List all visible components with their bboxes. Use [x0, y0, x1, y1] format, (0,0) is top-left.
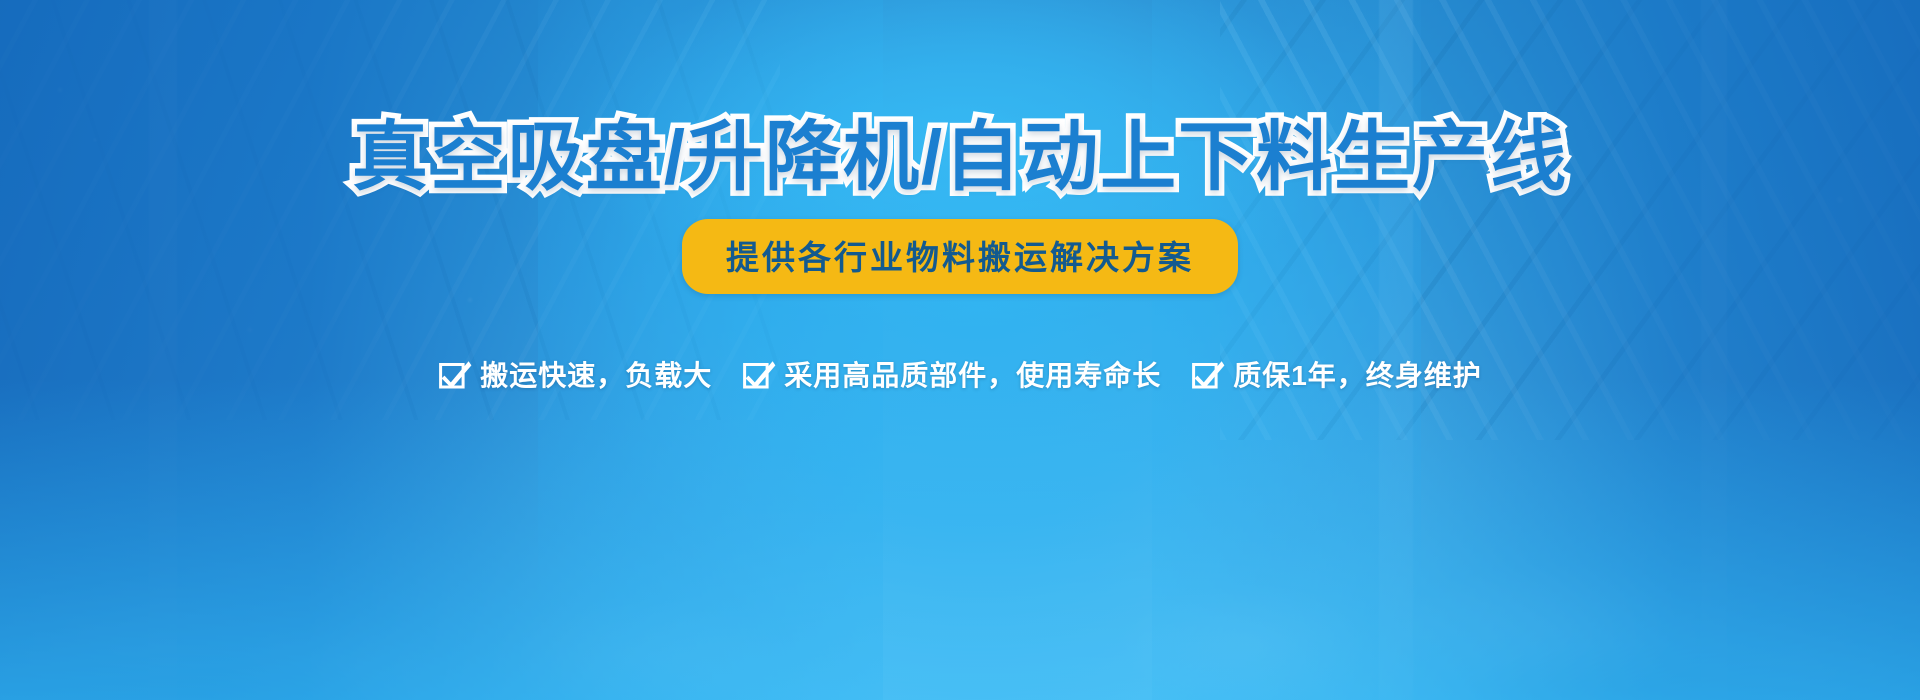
- banner-headline: 真空吸盘/升降机/自动上下料生产线: [352, 118, 1568, 197]
- banner-subtitle-badge: 提供各行业物料搬运解决方案: [682, 219, 1238, 294]
- feature-list: 搬运快速，负载大 采用高品质部件，使用寿命长 质保1年，终身维护: [438, 354, 1482, 394]
- feature-item: 质保1年，终身维护: [1191, 354, 1482, 394]
- banner-subtitle-row: 提供各行业物料搬运解决方案: [682, 219, 1238, 294]
- feature-label: 采用高品质部件，使用寿命长: [784, 354, 1161, 394]
- check-square-icon: [1191, 357, 1225, 391]
- hero-banner: 真空吸盘/升降机/自动上下料生产线 提供各行业物料搬运解决方案 搬运快速，负载大…: [0, 0, 1920, 700]
- check-square-icon: [742, 357, 776, 391]
- banner-content: 真空吸盘/升降机/自动上下料生产线 提供各行业物料搬运解决方案 搬运快速，负载大…: [0, 0, 1920, 700]
- feature-label: 搬运快速，负载大: [480, 354, 712, 394]
- feature-item: 采用高品质部件，使用寿命长: [742, 354, 1161, 394]
- check-square-icon: [438, 357, 472, 391]
- feature-label: 质保1年，终身维护: [1233, 354, 1482, 394]
- feature-item: 搬运快速，负载大: [438, 354, 712, 394]
